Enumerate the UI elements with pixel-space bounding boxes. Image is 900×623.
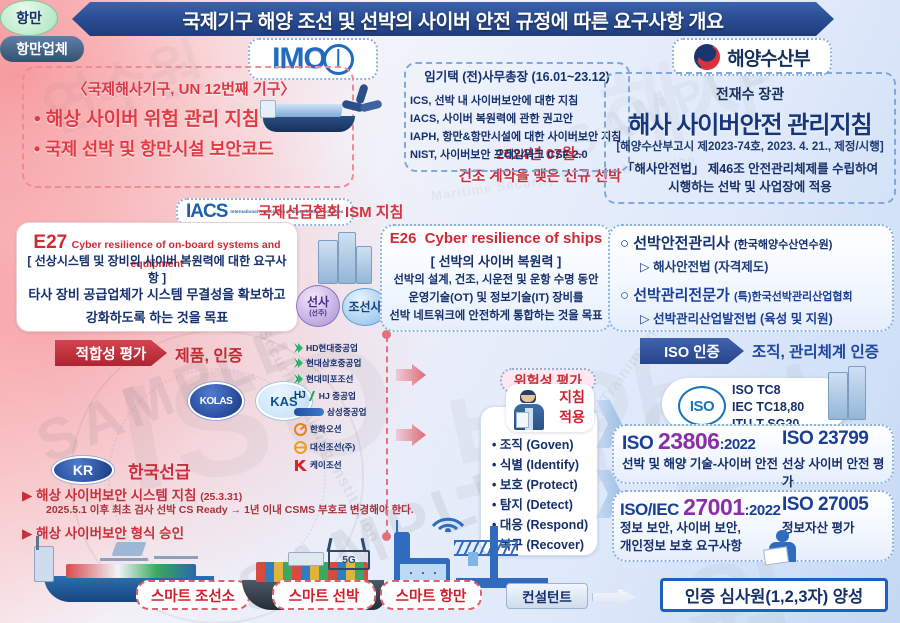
iso-standard-2-prefix: ISO/IEC [620, 500, 683, 519]
divider-dot [382, 330, 391, 339]
chevron-right-icon [294, 358, 303, 368]
document-stack-icon [356, 246, 372, 284]
risk-item-0: • 조직 (Goven) [492, 434, 574, 453]
iso-committee-1: IEC TC18,80 [732, 399, 804, 416]
slash-icon [307, 391, 316, 401]
shipyard-list: HD현대중공업 현대삼호중공업 현대미포조선 HJ HJ 중공업 삼성중공업 한… [294, 340, 386, 474]
document-stack-icon [338, 232, 356, 284]
shipyard-item: 현대삼호중공업 [294, 356, 386, 372]
iso-label: 조직, 관리체계 인증 [752, 340, 879, 362]
auditor-person-icon [764, 530, 798, 562]
e26-body: 선박의 설계, 건조, 시운전 및 운항 수명 동안 운영기술(OT) 및 정보… [384, 271, 608, 325]
conformity-ribbon: 적합성 평가 [55, 340, 167, 366]
hanwha-circle-icon [294, 423, 307, 436]
consultant-box[interactable]: 컨설턴트 [506, 583, 588, 609]
shipyard-label: 현대삼호중공업 [306, 357, 361, 369]
ics-item-2: IAPH, 항만&항만시설에 대한 사이버보안 지침 [410, 128, 628, 144]
iacs-mark: IACS [186, 201, 227, 223]
iso-standard-0-code: ISO 23806:2022 [622, 428, 755, 455]
port-circle: 항만 [0, 0, 58, 36]
e26-en: Cyber resilience of ships [425, 230, 603, 247]
risk-item-2: • 보호 (Protect) [492, 474, 578, 493]
e27-kr: [ 선상시스템 및 장비의 사이버 복원력에 대한 요구사항 ] [22, 252, 292, 286]
e26-kr: [ 선박의 사이버 복원력 ] [384, 251, 608, 270]
iso-standard-2-number: 27001 [683, 494, 744, 520]
shipyard-label: HD현대중공업 [306, 342, 358, 354]
smart-port-label: 스마트 항만 [380, 580, 482, 610]
shipyard-label: 삼성중공업 [327, 406, 367, 418]
iso-ribbon: ISO 인증 [640, 338, 744, 364]
conformity-label: 제품, 인증 [175, 342, 243, 366]
document-stack-icon [848, 366, 866, 420]
iso-standard-3-desc: 정보자산 평가 [782, 520, 894, 538]
manager-0-title-text: ○ 선박안전관리사 [620, 235, 730, 252]
page-title: 국제기구 해양 조선 및 선박의 사이버 안전 규정에 따른 요구사항 개요 [72, 2, 834, 36]
infographic-canvas: SAMPLE SAMPLE SAMPLE ISO 보안 연수원 연수원 해사 M… [0, 0, 900, 623]
risk-item-3: • 탐지 (Detect) [492, 494, 573, 513]
iso-standard-0-suffix: :2022 [719, 436, 755, 453]
ics-item-0: ICS, 선박 내 사이버보안에 대한 지침 [410, 92, 628, 108]
ics-item-3: NIST, 사이버보안 프레임워크 CSF 2.0 [410, 146, 628, 162]
iso-standard-2-code: ISO/IEC 27001:2022 [620, 494, 780, 521]
shipyard-label: 대선조선(주) [310, 441, 355, 453]
mof-apply-line-1: 시행하는 선박 및 사업장에 적용 [604, 178, 896, 196]
manager-1-title: ○ 선박관리전문가 (특)한국선박관리산업협회 [620, 284, 853, 305]
shipyard-item: 케이조선 [294, 456, 386, 474]
owner-bubble-label: 선사 [307, 296, 329, 308]
manager-0-law: ▷ 해사안전법 (자격제도) [640, 256, 768, 275]
shipyard-item: 한화오션 [294, 420, 386, 438]
taegeuk-icon [694, 44, 720, 70]
iso-standard-3-number: 27005 [818, 494, 868, 515]
iso-standard-0-prefix: ISO [622, 433, 658, 454]
mof-logo: 해양수산부 [672, 38, 832, 76]
kolas-logo: KOLAS [188, 382, 244, 420]
iacs-label: 국제선급협회 ISM 지침 [258, 201, 403, 222]
risk-head-line-1: 적용 [548, 408, 596, 428]
imo-item-0: • 해상 사이버 위험 관리 지침 [34, 104, 259, 131]
shipyard-label: 한화오션 [310, 423, 342, 435]
auditor-box[interactable]: 인증 심사원(1,2,3자) 양성 [660, 578, 888, 612]
manager-1-title-text: ○ 선박관리전문가 [620, 287, 730, 304]
owner-bubble: 선사 (선주) [296, 285, 340, 327]
e27-body-line-0: 타사 장비 공급업체가 시스템 무결성을 확보하고 [22, 284, 292, 307]
risk-head-line-0: 지침 [548, 388, 596, 408]
iso-standard-0-desc: 선박 및 해양 기술-사이버 안전 [622, 456, 790, 474]
iso-committee-0: ISO TC8 [732, 382, 804, 399]
iso-standard-1-desc: 선상 사이버 안전 평가 [782, 456, 894, 491]
iso-standard-1-number: 23799 [818, 428, 868, 449]
chevron-right-icon [294, 343, 303, 353]
e26-body-line-0: 선박의 설계, 건조, 시운전 및 운항 수명 동안 [384, 271, 608, 289]
chevron-right-icon [294, 374, 303, 384]
iso-standard-0-number: 23806 [658, 428, 719, 454]
e26-body-line-1: 운영기술(OT) 및 정보기술(IT) 장비를 [384, 289, 608, 307]
flow-arrow-red [396, 424, 426, 446]
e26-body-line-2: 선박 네트워크에 안전하게 통합하는 것을 목표 [384, 307, 608, 325]
shipyard-label: 케이조선 [310, 459, 342, 471]
manager-1-org: (특)한국선박관리산업협회 [734, 291, 853, 303]
mof-logo-text: 해양수산부 [727, 44, 809, 71]
manager-1-law: ▷ 선박관리산업발전법 (육성 및 지원) [640, 308, 833, 327]
hj-mark: HJ [294, 390, 305, 401]
iso-standard-3-code: ISO 27005 [782, 494, 868, 516]
shipyard-label: 현대미포조선 [306, 373, 353, 385]
kr-item-0: ▶ 해상 사이버보안 시스템 지침 (25.3.31) [22, 484, 242, 504]
ics-head: 임기택 (전)사무총장 (16.01~23.12) [408, 66, 626, 85]
consultant-arrow-icon [592, 588, 638, 608]
mof-apply: 「해사안전법」 제46조 안전관리체제를 수립하여 시행하는 선박 및 사업장에… [604, 160, 896, 196]
smart-ship-label: 스마트 선박 [272, 580, 376, 610]
samsung-mark-icon [294, 408, 324, 416]
shipyard-label: HJ 중공업 [319, 390, 356, 402]
e27-body-line-1: 강화하도록 하는 것을 목표 [22, 307, 292, 330]
iso-globe-icon: ISO [678, 386, 726, 426]
kr-label: 한국선급 [128, 458, 191, 483]
e27-code: E27 [33, 232, 67, 253]
5g-label: 5G [328, 550, 370, 570]
risk-head-text: 지침 적용 [548, 388, 596, 427]
mof-notice: [해양수산부고시 제2023-74호, 2023. 4. 21., 제정/시행] [604, 138, 896, 154]
risk-item-1: • 식별 (Identify) [492, 454, 579, 473]
mof-minister: 전재수 장관 [604, 84, 896, 104]
e27-body: 타사 장비 공급업체가 시스템 무결성을 확보하고 강화하도록 하는 것을 목표 [22, 284, 292, 330]
e26-code: E26 [390, 230, 417, 247]
port-company-badge: 항만업체 [0, 36, 84, 62]
iso-standard-2-suffix: :2022 [745, 502, 781, 519]
shipyard-item: HD현대중공업 [294, 340, 386, 356]
shipyard-item: 현대미포조선 [294, 371, 386, 387]
propeller-icon [340, 84, 384, 124]
kr-logo: KR [52, 456, 114, 484]
shipyard-item: 대선조선(주) [294, 438, 386, 456]
k-shipbuilding-icon [294, 459, 307, 472]
flow-arrow-red [396, 364, 426, 386]
kr-subnote: 2025.5.1 이후 최초 검사 선박 CS Ready → 1년 이내 CS… [46, 502, 414, 517]
mof-apply-line-0: 「해사안전법」 제46조 안전관리체제를 수립하여 [604, 160, 896, 178]
shipyard-item: HJ HJ 중공업 [294, 387, 386, 405]
shipyard-item: 삼성중공업 [294, 405, 386, 421]
e26-title: E26 Cyber resilience of ships [384, 230, 608, 247]
document-stack-icon [318, 240, 338, 284]
manager-0-title: ○ 선박안전관리사 (한국해양수산연수원) [620, 232, 832, 253]
iso-standard-1-prefix: ISO [782, 428, 818, 449]
mof-title: 해사 사이버안전 관리지침 [604, 105, 896, 140]
iso-standard-1-code: ISO 23799 [782, 428, 868, 450]
builder-bubble-label: 조선사 [348, 301, 381, 313]
person-clipboard-icon [512, 390, 546, 430]
vertical-divider [386, 336, 388, 536]
daesun-circle-icon [294, 441, 307, 454]
kr-item-0-text: ▶ 해상 사이버보안 시스템 지침 [22, 488, 196, 503]
wifi-icon [428, 506, 468, 532]
document-stack-icon [828, 372, 848, 420]
ics-item-1: IACS, 사이버 복원력에 관한 권고안 [410, 110, 628, 126]
iso-standard-3-prefix: ISO [782, 494, 818, 515]
owner-bubble-sub: (선주) [309, 310, 327, 317]
5g-tower-icon: 5G [320, 536, 374, 570]
manager-0-org: (한국해양수산연수원) [734, 239, 832, 251]
imo-item-1: • 국제 선박 및 항만시설 보안코드 [34, 136, 274, 161]
